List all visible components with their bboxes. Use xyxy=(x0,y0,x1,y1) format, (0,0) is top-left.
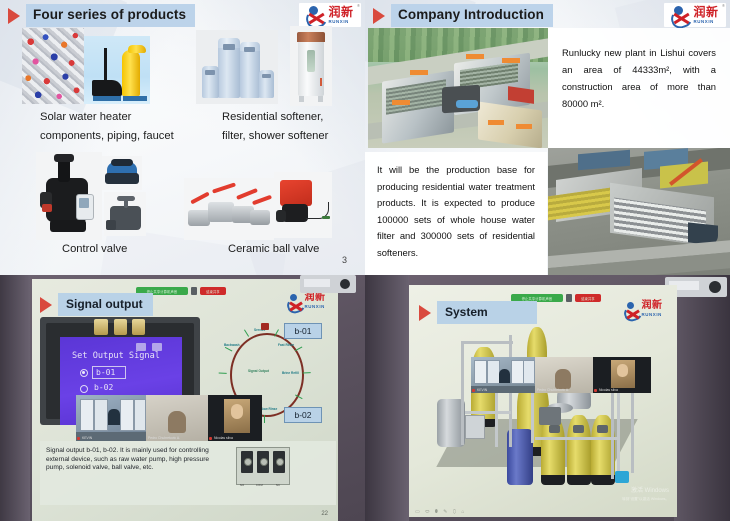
slide-title-row: Signal output xyxy=(40,293,153,316)
logo-mark-icon xyxy=(624,302,640,317)
video-tile-participant[interactable]: Nicolas silva xyxy=(593,357,651,393)
logo-name-en: RUNXIN xyxy=(642,313,662,317)
photo-slide-signal-output: 停止共享计算机声音 结束共享 Signal output 润新 RUNXIN xyxy=(0,275,365,521)
wall-shadow xyxy=(674,275,730,521)
construction-aerial-photo xyxy=(548,148,730,275)
video-tile-presenter[interactable]: KEVIN xyxy=(471,357,535,393)
projection-screen: 停止共享计算机声音 结束共享 Signal output 润新 RUNXIN xyxy=(32,279,338,521)
red-actuator-valve-photo xyxy=(274,172,332,238)
triangle-bullet-icon xyxy=(419,305,432,321)
page-title: System xyxy=(445,305,488,319)
logo-mark-icon xyxy=(671,6,691,25)
intro-paragraph-2: It will be the production base for produ… xyxy=(365,152,547,261)
mic-muted-icon xyxy=(77,437,80,440)
cycle-step-label: Brine Refill xyxy=(282,371,299,375)
runxin-logo: 润新 RUNXIN ® xyxy=(664,3,726,27)
intro-paragraph-1-box: Runlucky new plant in Lishui covers an a… xyxy=(548,28,730,148)
logo-name-cn: 润新 xyxy=(693,6,718,18)
plastic-fittings-photo xyxy=(22,28,84,104)
logo-trademark: ® xyxy=(357,3,360,8)
page-number: 3 xyxy=(342,255,347,265)
wall-shadow xyxy=(365,275,409,521)
video-tile-participant[interactable]: Nicolas silva xyxy=(208,395,262,441)
microphone-icon[interactable] xyxy=(566,294,572,302)
logo-text: 润新 RUNXIN xyxy=(642,301,663,317)
callout-b01: b-01 xyxy=(284,323,322,339)
mic-muted-icon xyxy=(472,389,475,392)
logo-name-cn: 润新 xyxy=(642,301,663,311)
page-title: Signal output xyxy=(66,297,143,311)
water-treatment-system-render xyxy=(431,321,661,489)
runxin-logo: 润新 RUNXIN ® xyxy=(299,3,361,27)
lcd-option-b02-label: b-02 xyxy=(94,383,113,392)
faucet-photo xyxy=(84,36,150,104)
tall-filter-photo xyxy=(290,26,332,106)
product-caption: Control valve xyxy=(62,240,127,259)
product-caption: Residential softener, filter, shower sof… xyxy=(222,108,328,146)
slide-four-series-of-products: Four series of products 润新 RUNXIN ® xyxy=(0,0,365,275)
logo-mark-icon xyxy=(306,6,326,25)
lcd-radio-b01[interactable] xyxy=(80,369,88,377)
participant-name: Nicolas silva xyxy=(599,388,618,392)
photo-slide-system: 停止共享计算机声音 结束共享 System 润新 RUNXIN xyxy=(365,275,730,521)
logo-text: 润新 RUNXIN xyxy=(328,6,353,24)
video-tile-participant[interactable]: Pedro Chubretovic A. xyxy=(146,395,208,441)
page-title: Four series of products xyxy=(33,7,186,22)
participant-name: Nicolas silva xyxy=(214,436,233,440)
product-caption: Solar water heater components, piping, f… xyxy=(40,108,174,146)
lcd-option-b01-highlight[interactable]: b-01 xyxy=(92,366,126,379)
logo-trademark: ® xyxy=(722,3,725,8)
windows-activation-watermark: 激活 Windows 转到"设置"以激活 Windows。 xyxy=(622,487,669,503)
end-share-button[interactable]: 结束共享 xyxy=(575,294,601,302)
projection-screen: 停止共享计算机声音 结束共享 System 润新 RUNXIN xyxy=(409,285,677,517)
callout-b02: b-02 xyxy=(284,407,322,423)
logo-name-en: RUNXIN xyxy=(693,20,713,24)
page-number: 22 xyxy=(321,511,328,517)
participant-name: Pedro Chubretovic A. xyxy=(148,436,180,440)
slide-title-row: Company Introduction xyxy=(373,4,553,27)
glare-spot xyxy=(114,319,127,335)
slide-caption: Signal output b-01, b-02. It is mainly u… xyxy=(46,447,216,473)
cycle-center-label: Signal Output xyxy=(248,369,269,373)
gray-valve-photo xyxy=(104,192,146,236)
slide-company-introduction: Company Introduction 润新 RUNXIN ® xyxy=(365,0,730,275)
triangle-bullet-icon xyxy=(8,8,21,24)
logo-name-en: RUNXIN xyxy=(328,20,348,24)
control-valve-photo xyxy=(36,152,102,240)
plant-rendering-photo xyxy=(368,28,548,148)
ball-valves-photo xyxy=(184,178,274,240)
lcd-option-b01-label: b-01 xyxy=(96,368,115,377)
runxin-logo: 润新 RUNXIN xyxy=(280,291,332,311)
wall-shadow xyxy=(0,275,30,521)
slide-grid: Four series of products 润新 RUNXIN ® xyxy=(0,0,730,521)
softener-cabinets-photo xyxy=(196,30,278,104)
participant-name: KEVIN xyxy=(82,436,92,440)
logo-text: 润新 RUNXIN xyxy=(693,6,718,24)
watermark-line-1: 激活 Windows xyxy=(622,487,669,495)
relay-terminal-com: COM xyxy=(256,484,263,487)
glare-spot xyxy=(94,319,108,335)
slide-title-band: Four series of products xyxy=(26,4,195,27)
blue-valve-photo xyxy=(102,156,142,190)
page-title: Company Introduction xyxy=(398,7,544,22)
logo-name-cn: 润新 xyxy=(305,293,326,303)
lcd-heading: Set Output Signal xyxy=(72,351,160,361)
relay-terminal-photo xyxy=(236,447,290,485)
slide-title-band: Signal output xyxy=(58,293,153,316)
mic-muted-icon xyxy=(209,437,212,440)
product-caption: Ceramic ball valve xyxy=(228,240,319,259)
slide-caption-box: Signal output b-01, b-02. It is mainly u… xyxy=(40,441,336,505)
video-call-strip: KEVIN Pedro Chubretovic A. Nicolas silva xyxy=(76,395,262,441)
end-share-button[interactable]: 结束共享 xyxy=(200,287,226,295)
video-tile-presenter[interactable]: KEVIN xyxy=(76,395,146,441)
intro-paragraph-1: Runlucky new plant in Lishui covers an a… xyxy=(548,28,730,112)
intro-paragraph-2-box: It will be the production base for produ… xyxy=(365,152,547,275)
logo-text: 润新 RUNXIN xyxy=(305,293,326,309)
lcd-radio-b02[interactable] xyxy=(80,385,88,393)
participant-name: Pedro Chubretovic A. xyxy=(537,388,569,392)
glare-spot xyxy=(132,319,145,335)
video-tile-participant[interactable]: Pedro Chubretovic A. xyxy=(535,357,593,393)
logo-name-cn: 润新 xyxy=(328,6,353,18)
watermark-line-2: 转到"设置"以激活 Windows。 xyxy=(622,497,669,501)
video-call-strip: KEVIN Pedro Chubretovic A. Nicolas silva xyxy=(471,357,651,393)
slide-title-row: Four series of products xyxy=(8,4,195,27)
mic-muted-icon xyxy=(594,389,597,392)
logo-mark-icon xyxy=(287,294,303,309)
slide-title-band: Company Introduction xyxy=(391,4,553,27)
relay-terminal-no: NO xyxy=(240,484,245,487)
participant-name: KEVIN xyxy=(477,388,487,392)
projector-device xyxy=(300,275,356,293)
cycle-step-label: Fast Rinse xyxy=(278,343,294,347)
annotation-toolbar-icons[interactable]: ▭ ⬭ ⬮ ✎ ⬯ ⌂ xyxy=(415,509,466,515)
relay-terminal-nc: NC xyxy=(276,484,280,487)
runxin-logo: 润新 RUNXIN xyxy=(617,299,669,319)
logo-name-en: RUNXIN xyxy=(305,305,325,309)
triangle-bullet-icon xyxy=(373,8,386,24)
microphone-icon[interactable] xyxy=(191,287,197,295)
triangle-bullet-icon xyxy=(40,297,53,313)
